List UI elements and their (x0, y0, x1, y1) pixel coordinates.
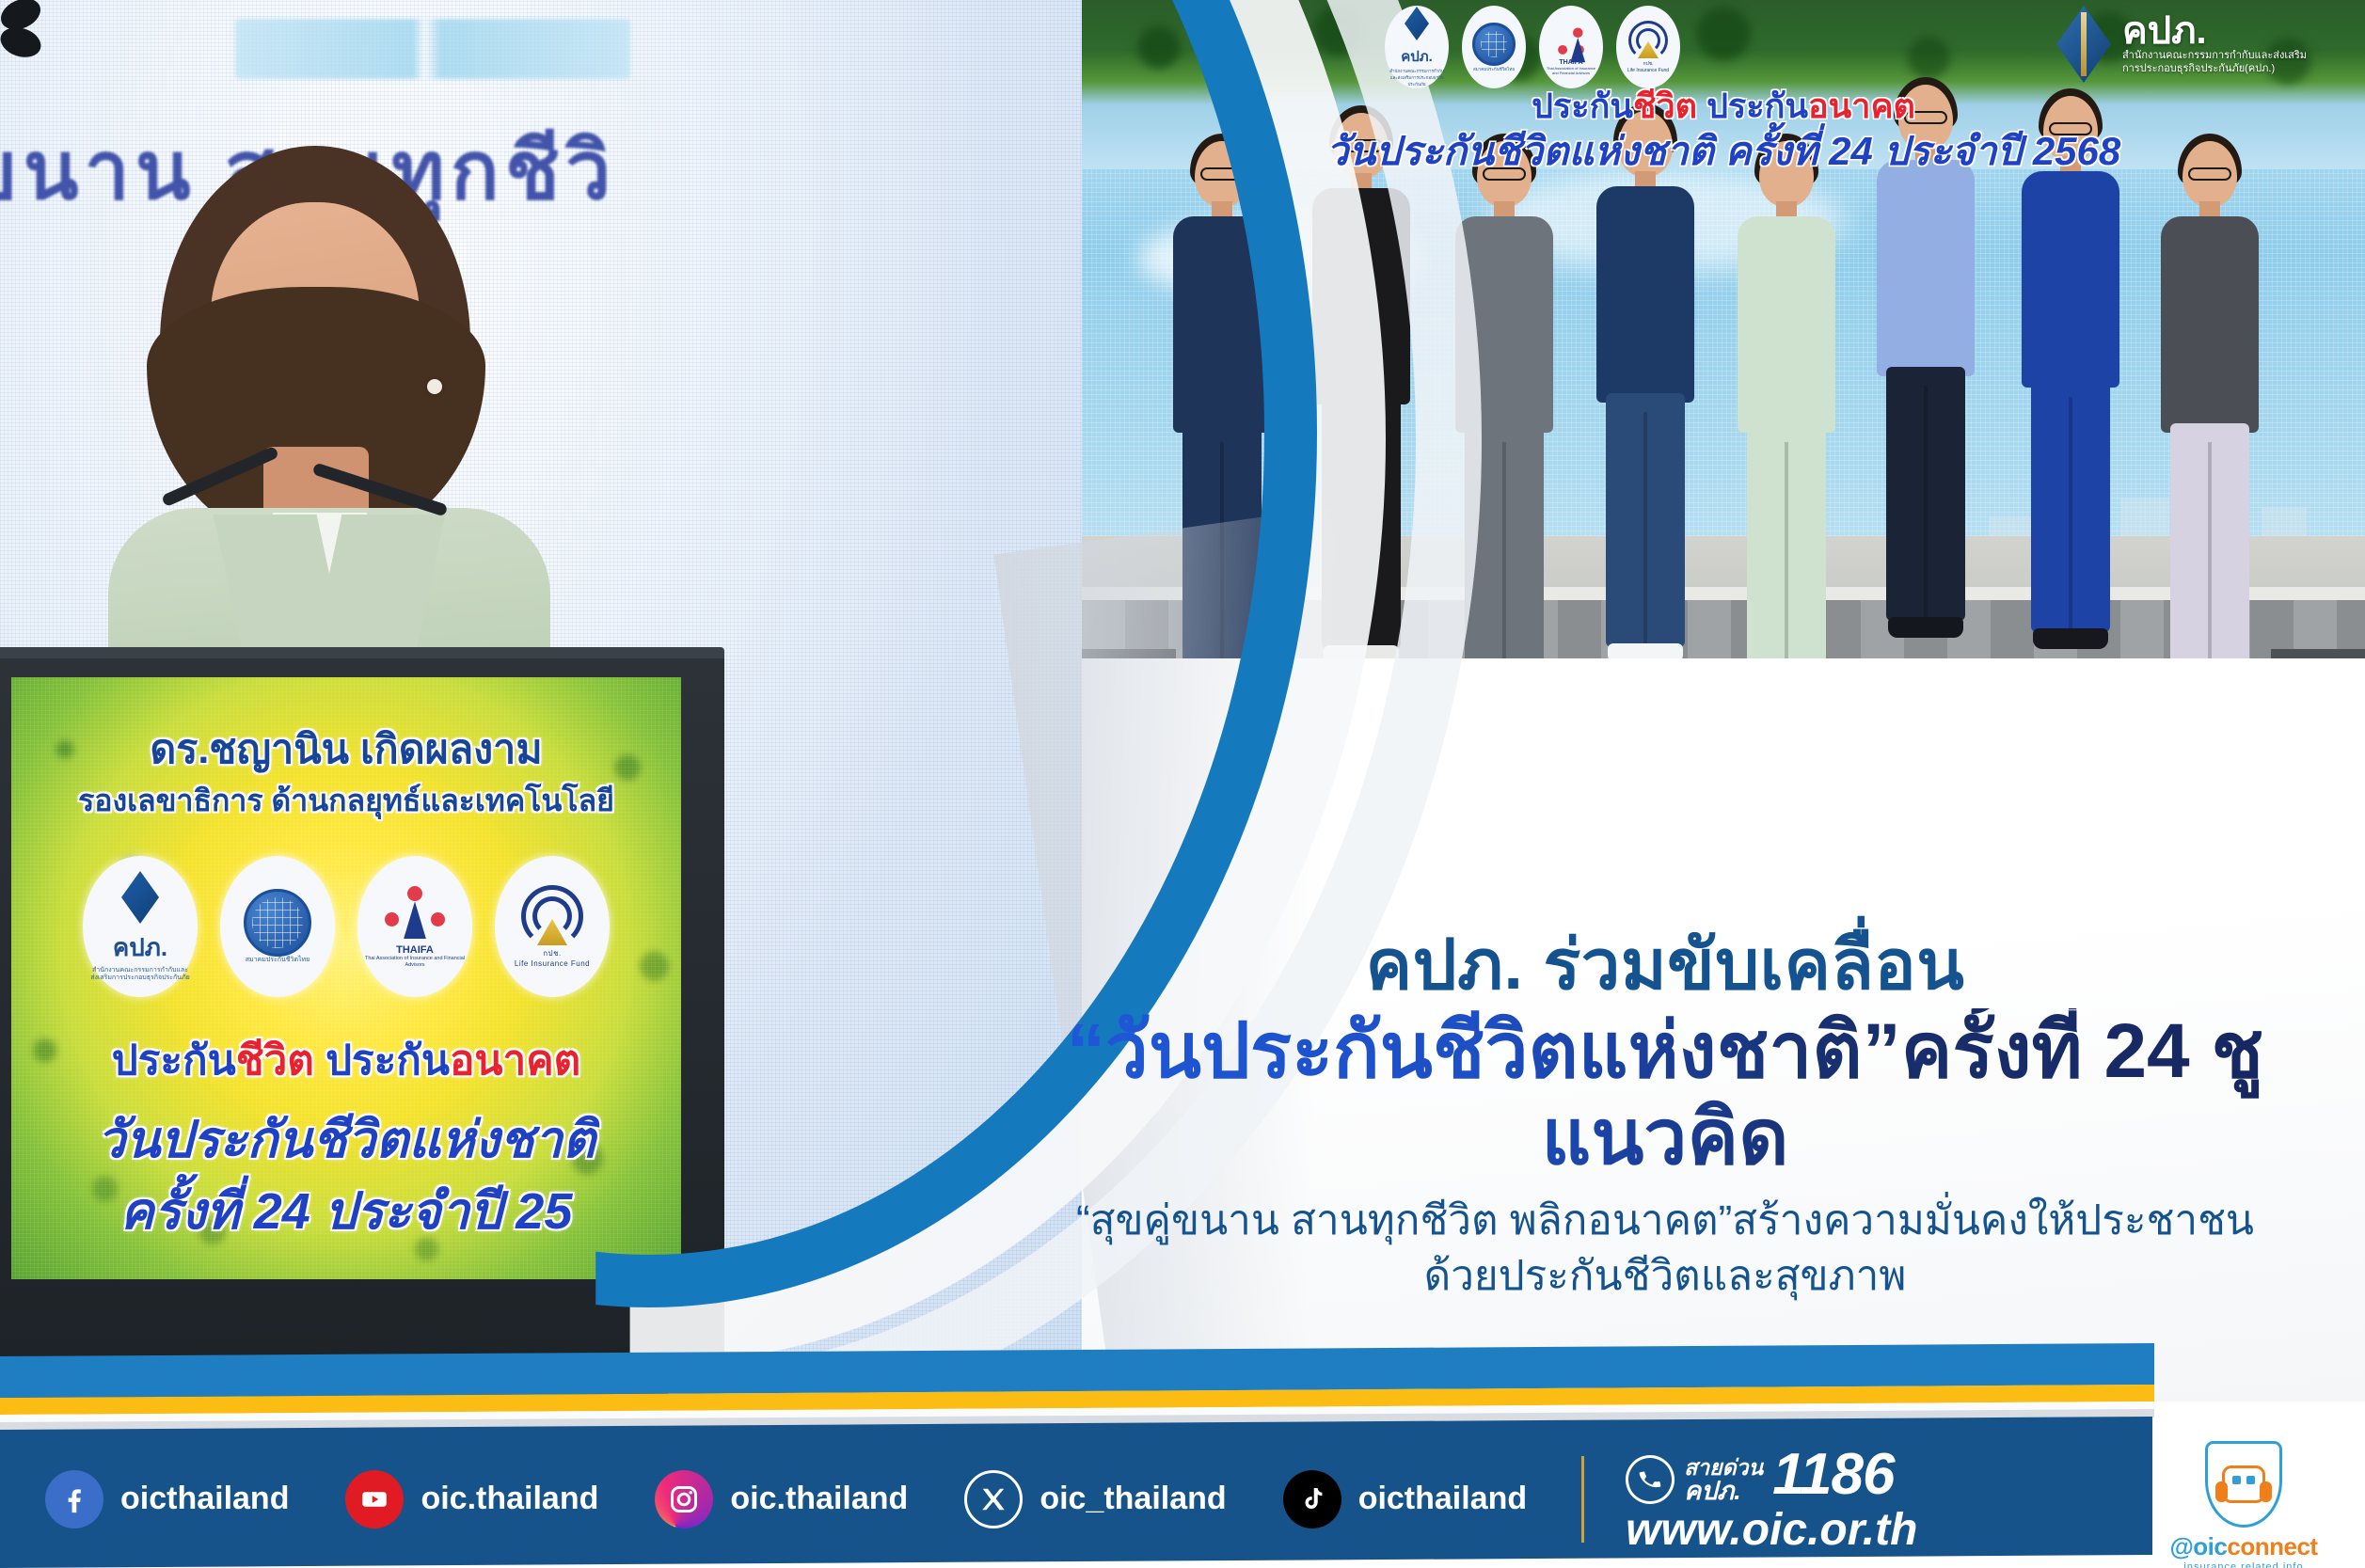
speaker-photo-panel: ขนาน สานทุกชีวิ (0, 0, 1082, 1402)
headline-line-3a: “สุขคู่ขนาน สานทุกชีวิต พลิกอนาคต”สร้างค… (1016, 1193, 2314, 1248)
headline-block: คปภ. ร่วมขับเคลื่อน “วันประกันชีวิตแห่งช… (1016, 927, 2314, 1305)
tlaa-logo-sub: สมาคมประกันชีวิตไทย (1468, 66, 1519, 72)
footer-divider (1581, 1456, 1584, 1543)
instagram-handle[interactable]: oic.thailand (730, 1481, 908, 1517)
fund-logo-sub: Life Insurance Fund (515, 959, 590, 968)
oicconnect-wordmark: @oicconnect (2169, 1532, 2317, 1561)
thaifa-logo: THAIFA Thai Association of Insurance and… (357, 856, 472, 997)
youtube-icon[interactable] (345, 1470, 404, 1528)
life-insurance-fund-logo: กปช. Life Insurance Fund (1616, 6, 1680, 88)
facebook-icon[interactable] (45, 1470, 103, 1528)
thaifa-logo-sub: Thai Association of Insurance and Financ… (357, 956, 472, 968)
headline-line-3b: ด้วยประกันชีวิตและสุขภาพ (1016, 1248, 2314, 1304)
thaifa-person-icon (1558, 26, 1584, 53)
oic-brand-line1: สำนักงานคณะกรรมการกำกับและส่งเสริม (2122, 50, 2307, 63)
oicconnect-name-a: oic (2193, 1532, 2227, 1560)
life-insurance-fund-logo: กปช. Life Insurance Fund (495, 856, 610, 997)
oic-logo-abbr: คปภ. (113, 928, 167, 967)
banner-event-line: วันประกันชีวิตแห่งชาติ ครั้งที่ 24 ประจำ… (1082, 120, 2365, 169)
podium-event-line-1: วันประกันชีวิตแห่งชาติ (11, 1099, 681, 1180)
social-link-x[interactable]: oic_thailand (964, 1470, 1226, 1528)
person-figure (1590, 111, 1701, 705)
hotline-number[interactable]: 1186 (1772, 1446, 1894, 1504)
podium-event-line-2: ครั้งที่ 24 ประจำปี 25 (11, 1170, 681, 1251)
fund-arc-icon (1628, 21, 1668, 60)
oicconnect-name-b: connect (2227, 1532, 2317, 1560)
oic-logo: คปภ. สำนักงานคณะกรรมการกำกับและส่งเสริมก… (83, 856, 198, 997)
thaifa-person-icon (385, 884, 445, 944)
x-handle[interactable]: oic_thailand (1040, 1481, 1226, 1517)
fund-logo-abbr: กปช. (543, 947, 562, 959)
thaifa-logo: THAIFA Thai Association of Insurance and… (1539, 6, 1603, 88)
speaker-earring (427, 379, 442, 394)
headline-line-1: คปภ. ร่วมขับเคลื่อน (1016, 927, 2314, 1003)
oic-brand-lockup: คปภ. สำนักงานคณะกรรมการกำกับและส่งเสริม … (2056, 6, 2307, 83)
social-link-instagram[interactable]: oic.thailand (655, 1470, 908, 1528)
oic-logo-abbr: คปภ. (1401, 45, 1433, 68)
tlaa-logo-sub: สมาคมประกันชีวิตไทย (238, 957, 318, 964)
x-twitter-icon[interactable] (964, 1470, 1023, 1528)
thaifa-logo-sub: Thai Association of Insurance and Financ… (1539, 66, 1603, 75)
podium-speaker-name: ดร.ชญานิน เกิดผลงาม (11, 717, 681, 781)
oic-brand-line2: การประกอบธุรกิจประกันภัย(คปภ.) (2122, 63, 2307, 76)
person-figure (2015, 96, 2126, 705)
fund-logo-sub: Life Insurance Fund (1627, 68, 1669, 73)
globe-icon (244, 889, 311, 957)
headline-line-2: “วันประกันชีวิตแห่งชาติ”ครั้งที่ 24 ชูแน… (1016, 1008, 2314, 1181)
event-header-banner: คปภ. สำนักงานคณะกรรมการกำกับและส่งเสริมก… (1082, 0, 2365, 169)
tiktok-icon[interactable] (1283, 1470, 1341, 1528)
hotline-block[interactable]: สายด่วน คปภ. 1186 www.oic.or.th (1626, 1446, 1917, 1553)
oic-diamond-icon (1405, 7, 1429, 40)
oic-diamond-icon (2056, 6, 2111, 83)
oicconnect-logo[interactable]: @oicconnect insurance related info (2145, 1441, 2342, 1568)
podium-speaker-role: รองเลขาธิการ ด้านกลยุทธ์และเทคโนโลยี (11, 777, 681, 825)
led-wall-glyph-blur (235, 19, 630, 79)
oic-logo-sub: สำนักงานคณะกรรมการกำกับและส่งเสริมการประ… (83, 967, 198, 982)
banner-slogan-part4: อนาคต (1808, 87, 1915, 125)
hotline-label-a: สายด่วน (1684, 1457, 1763, 1479)
facebook-handle[interactable]: oicthailand (120, 1481, 289, 1517)
social-link-youtube[interactable]: oic.thailand (345, 1470, 598, 1528)
tlaa-logo: สมาคมประกันชีวิตไทย (1462, 6, 1526, 88)
instagram-icon[interactable] (655, 1470, 713, 1528)
website-url[interactable]: www.oic.or.th (1626, 1508, 1917, 1553)
social-link-tiktok[interactable]: oicthailand (1283, 1470, 1527, 1528)
podium-slogan-part2: ชีวิต (236, 1037, 314, 1084)
fund-arc-icon (521, 885, 583, 947)
oicconnect-at: @ (2169, 1532, 2193, 1560)
person-figure (1870, 85, 1981, 705)
podium-slogan-part1: ประกัน (112, 1037, 236, 1084)
person-figure (2154, 141, 2265, 705)
header-logo-row: คปภ. สำนักงานคณะกรรมการกำกับและส่งเสริมก… (1385, 6, 1680, 88)
podium-slogan: ประกันชีวิต ประกันอนาคต (11, 1027, 681, 1093)
person-figure (1731, 141, 1842, 705)
banner-slogan-part2: ชีวิต (1633, 87, 1697, 125)
oicconnect-tagline: insurance related info (2183, 1561, 2303, 1568)
podium-banner: ดร.ชญานิน เกิดผลงาม รองเลขาธิการ ด้านกลย… (11, 677, 681, 1279)
tlaa-logo: สมาคมประกันชีวิตไทย (220, 856, 335, 997)
fund-logo-abbr: กปช. (1643, 60, 1654, 68)
person-figure (1449, 141, 1560, 705)
youtube-handle[interactable]: oic.thailand (421, 1481, 598, 1517)
poster-root: ขนาน สานทุกชีวิ (0, 0, 2365, 1568)
banner-slogan-part3: ประกัน (1697, 87, 1808, 125)
hotline-label-b: คปภ. (1684, 1479, 1763, 1504)
banner-slogan-part1: ประกัน (1532, 87, 1633, 125)
phone-icon (1621, 1450, 1679, 1509)
social-link-facebook[interactable]: oicthailand (45, 1470, 289, 1528)
podium-logo-row: คปภ. สำนักงานคณะกรรมการกำกับและส่งเสริมก… (11, 856, 681, 997)
podium-slogan-part4: อนาคต (450, 1037, 580, 1084)
oic-brand-abbr: คปภ. (2122, 12, 2307, 50)
globe-icon (1472, 23, 1516, 66)
footer-content: oicthailand oic.thailand oic.thailand (0, 1430, 2152, 1568)
thaifa-logo-abbr: THAIFA (396, 944, 434, 956)
oic-logo: คปภ. สำนักงานคณะกรรมการกำกับและส่งเสริมก… (1385, 6, 1449, 88)
shield-icon (2205, 1441, 2282, 1528)
tiktok-handle[interactable]: oicthailand (1358, 1481, 1527, 1517)
oic-diamond-icon (121, 871, 159, 924)
chatbot-icon (2222, 1465, 2265, 1503)
podium-slogan-part3: ประกัน (314, 1037, 450, 1084)
